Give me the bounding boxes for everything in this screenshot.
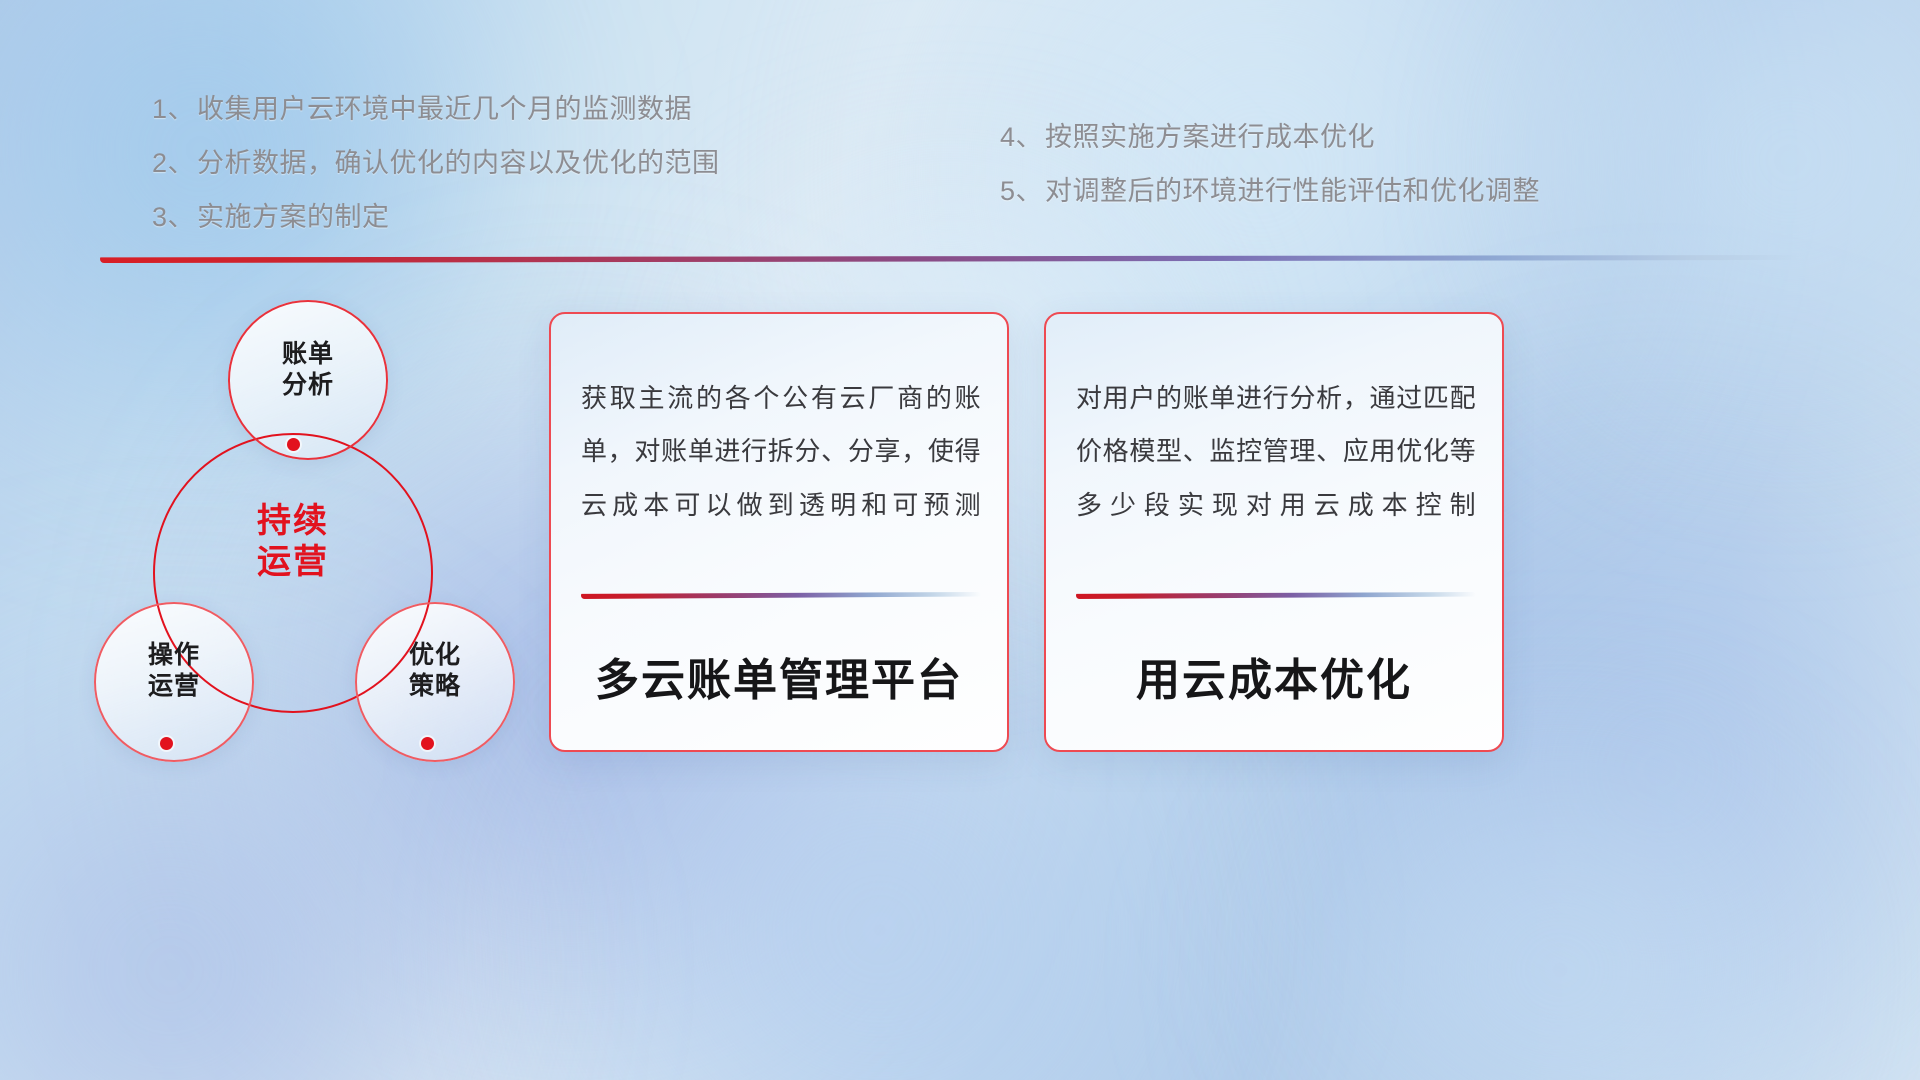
venn-label-line-1: 优化 [355, 640, 515, 671]
card-divider-bar [1076, 592, 1476, 599]
step-number-4: 4、 [1000, 122, 1043, 152]
step-item-1: 1、收集用户云环境中最近几个月的监测数据 [152, 96, 720, 123]
card-title: 多云账单管理平台 [551, 644, 1007, 708]
venn-diagram: 账单 分析 操作 运营 优化 策略 持续 运营 [80, 285, 550, 765]
card-divider [581, 592, 981, 599]
step-text-3: 实施方案的制定 [197, 202, 390, 232]
venn-label-line-1: 操作 [94, 640, 254, 671]
venn-connector-dot-top [287, 438, 300, 451]
venn-connector-dot-bottom-left [160, 737, 173, 750]
venn-label-optimization-strategy: 优化 策略 [355, 640, 515, 701]
step-number-3: 3、 [152, 202, 195, 232]
step-text-1: 收集用户云环境中最近几个月的监测数据 [197, 94, 692, 124]
step-item-4: 4、按照实施方案进行成本优化 [1000, 124, 1540, 151]
venn-center-label-line-1: 持续 [153, 501, 433, 542]
venn-label-line-2: 分析 [228, 370, 388, 401]
card-cloud-cost-optimization[interactable]: 对用户的账单进行分析，通过匹配价格模型、监控管理、应用优化等多少段实现对用云成本… [1044, 312, 1504, 752]
step-item-2: 2、分析数据，确认优化的内容以及优化的范围 [152, 150, 720, 177]
step-number-5: 5、 [1000, 176, 1043, 206]
step-text-4: 按照实施方案进行成本优化 [1045, 122, 1375, 152]
card-divider-bar [581, 592, 981, 599]
steps-right-column: 4、按照实施方案进行成本优化 5、对调整后的环境进行性能评估和优化调整 [1000, 124, 1540, 232]
steps-left-column: 1、收集用户云环境中最近几个月的监测数据 2、分析数据，确认优化的内容以及优化的… [152, 96, 720, 258]
venn-label-line-1: 账单 [228, 339, 388, 370]
card-title: 用云成本优化 [1046, 644, 1502, 708]
section-divider-rule [100, 255, 1800, 263]
card-divider [1076, 592, 1476, 599]
step-item-5: 5、对调整后的环境进行性能评估和优化调整 [1000, 178, 1540, 205]
card-multi-cloud-billing[interactable]: 获取主流的各个公有云厂商的账单，对账单进行拆分、分享，使得云成本可以做到透明和可… [549, 312, 1009, 752]
card-body-text: 对用户的账单进行分析，通过匹配价格模型、监控管理、应用优化等多少段实现对用云成本… [1076, 372, 1476, 532]
step-item-3: 3、实施方案的制定 [152, 204, 720, 231]
section-divider-bar [100, 255, 1800, 263]
venn-connector-dot-bottom-right [421, 737, 434, 750]
steps-section: 1、收集用户云环境中最近几个月的监测数据 2、分析数据，确认优化的内容以及优化的… [0, 0, 1920, 260]
venn-label-line-2: 策略 [355, 671, 515, 702]
step-text-5: 对调整后的环境进行性能评估和优化调整 [1045, 176, 1540, 206]
venn-label-operations: 操作 运营 [94, 640, 254, 701]
venn-center-label-line-2: 运营 [153, 542, 433, 583]
step-text-2: 分析数据，确认优化的内容以及优化的范围 [197, 148, 720, 178]
venn-label-line-2: 运营 [94, 671, 254, 702]
step-number-1: 1、 [152, 94, 195, 124]
card-body-text: 获取主流的各个公有云厂商的账单，对账单进行拆分、分享，使得云成本可以做到透明和可… [581, 372, 981, 532]
venn-label-bill-analysis: 账单 分析 [228, 339, 388, 400]
step-number-2: 2、 [152, 148, 195, 178]
venn-center-label: 持续 运营 [153, 501, 433, 584]
